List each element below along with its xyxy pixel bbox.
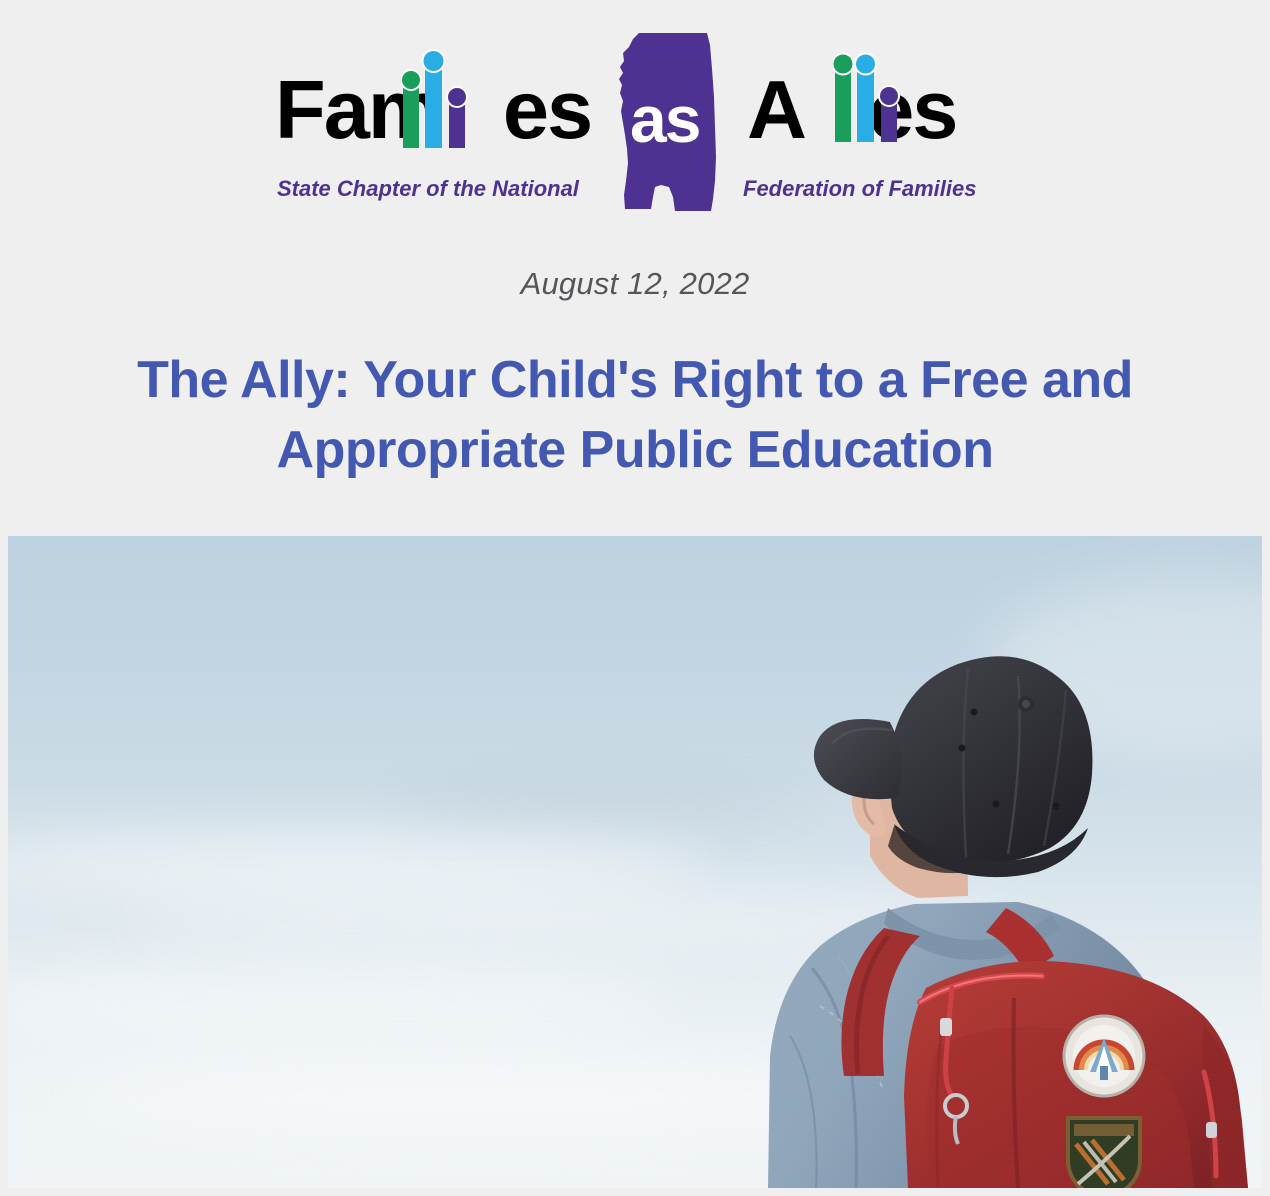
logo-word-allies-head: A xyxy=(747,68,805,151)
logo-families-as-allies: Families xyxy=(275,28,1000,213)
round-backpack-patch xyxy=(1064,1016,1144,1096)
people-figures-allies-icon xyxy=(833,42,903,142)
people-figures-families-icon xyxy=(401,48,471,148)
page-title: The Ally: Your Child's Right to a Free a… xyxy=(60,345,1210,485)
newsletter-page: Families xyxy=(0,0,1270,1196)
logo-tagline-right: Federation of Families xyxy=(743,176,977,202)
shield-backpack-patch xyxy=(1068,1118,1140,1188)
logo-tagline-left: State Chapter of the National xyxy=(277,176,579,202)
student-figure xyxy=(8,536,1262,1188)
hero-image xyxy=(8,536,1262,1188)
issue-date: August 12, 2022 xyxy=(0,266,1270,302)
logo-word-as: as xyxy=(630,86,699,152)
logo-header: Families xyxy=(0,0,1270,225)
logo-word-families-tail: es xyxy=(503,68,591,151)
